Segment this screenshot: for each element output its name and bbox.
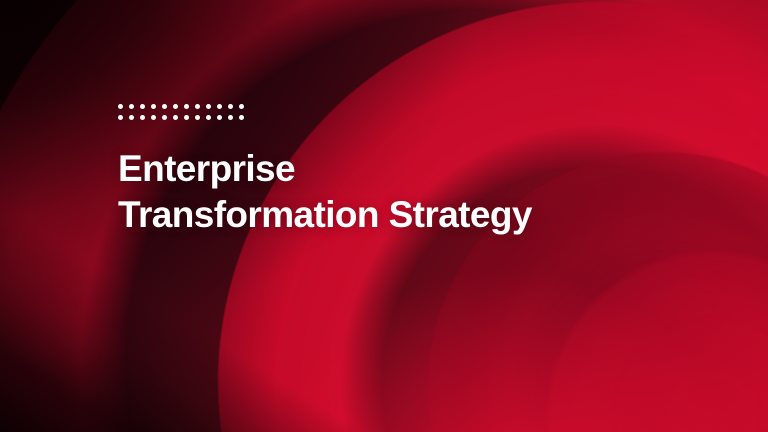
dot — [195, 104, 200, 109]
dot — [151, 115, 156, 120]
dot — [118, 115, 123, 120]
dot — [239, 104, 244, 109]
dot — [206, 104, 211, 109]
dot — [206, 115, 211, 120]
dot — [129, 104, 134, 109]
dot — [173, 104, 178, 109]
dot — [184, 115, 189, 120]
slide-title: Enterprise Transformation Strategy — [118, 146, 678, 238]
slide-title-line-1: Enterprise — [118, 146, 678, 192]
dot — [129, 115, 134, 120]
dot — [239, 115, 244, 120]
slide-content: Enterprise Transformation Strategy — [118, 104, 678, 238]
slide-title-line-2: Transformation Strategy — [118, 192, 678, 238]
dot — [173, 115, 178, 120]
dot — [228, 115, 233, 120]
dot — [162, 104, 167, 109]
dot — [162, 115, 167, 120]
dot — [217, 104, 222, 109]
dot — [184, 104, 189, 109]
dot-grid-decoration — [118, 104, 250, 126]
dot — [195, 115, 200, 120]
dot — [118, 104, 123, 109]
dot — [217, 115, 222, 120]
dot — [151, 104, 156, 109]
title-slide: Enterprise Transformation Strategy — [0, 0, 768, 432]
dot — [140, 104, 145, 109]
dot — [140, 115, 145, 120]
dot — [228, 104, 233, 109]
